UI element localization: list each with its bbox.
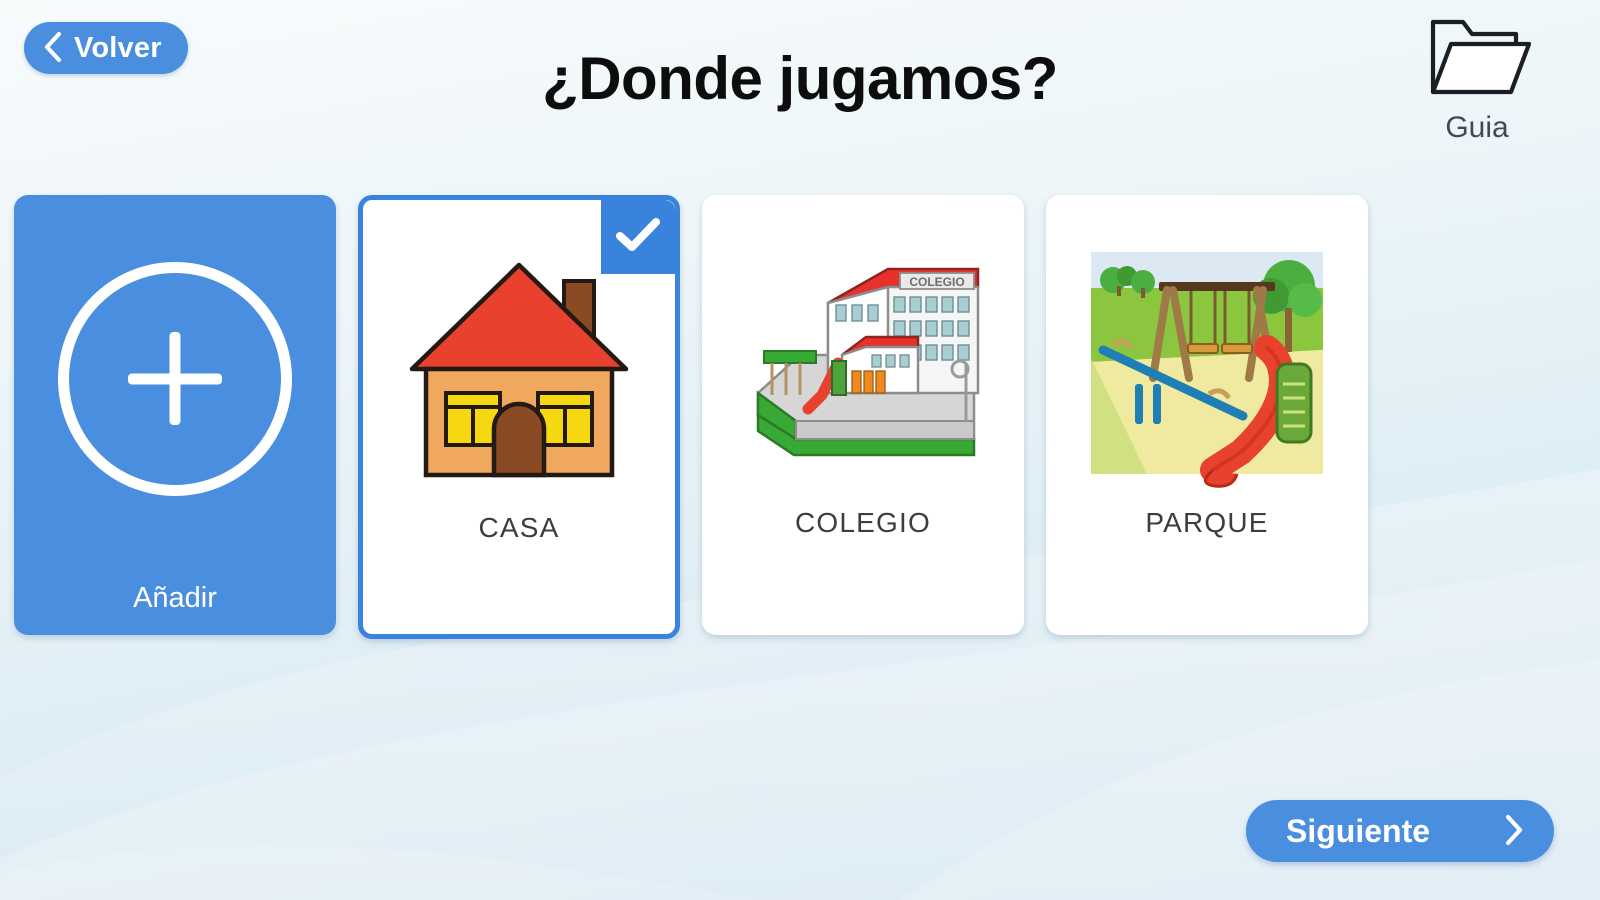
option-card-label: PARQUE xyxy=(1145,507,1268,539)
option-card-label: COLEGIO xyxy=(795,507,931,539)
chevron-right-icon xyxy=(1502,812,1526,851)
guide-label: Guia xyxy=(1445,111,1508,145)
top-bar: Volver ¿Donde jugamos? Guia xyxy=(0,0,1600,190)
plus-circle-icon xyxy=(58,262,292,496)
option-card-casa[interactable]: CASA xyxy=(358,195,680,639)
next-button-label: Siguiente xyxy=(1286,813,1430,850)
playground-pictogram xyxy=(1076,213,1338,513)
option-card-colegio[interactable]: COLEGIO xyxy=(702,195,1024,635)
check-icon xyxy=(615,216,661,259)
page-title: ¿Donde jugamos? xyxy=(0,44,1600,113)
option-card-label: CASA xyxy=(478,512,559,544)
folder-open-icon xyxy=(1423,10,1531,107)
svg-text:COLEGIO: COLEGIO xyxy=(909,275,964,289)
add-card[interactable]: Añadir xyxy=(14,195,336,635)
guide-button[interactable]: Guia xyxy=(1412,10,1542,145)
selected-check-badge xyxy=(601,200,675,274)
options-grid: Añadir CASA xyxy=(14,195,1368,639)
add-card-label: Añadir xyxy=(133,582,217,615)
option-card-parque[interactable]: PARQUE xyxy=(1046,195,1368,635)
next-button[interactable]: Siguiente xyxy=(1246,800,1554,862)
school-pictogram: COLEGIO xyxy=(732,213,994,513)
